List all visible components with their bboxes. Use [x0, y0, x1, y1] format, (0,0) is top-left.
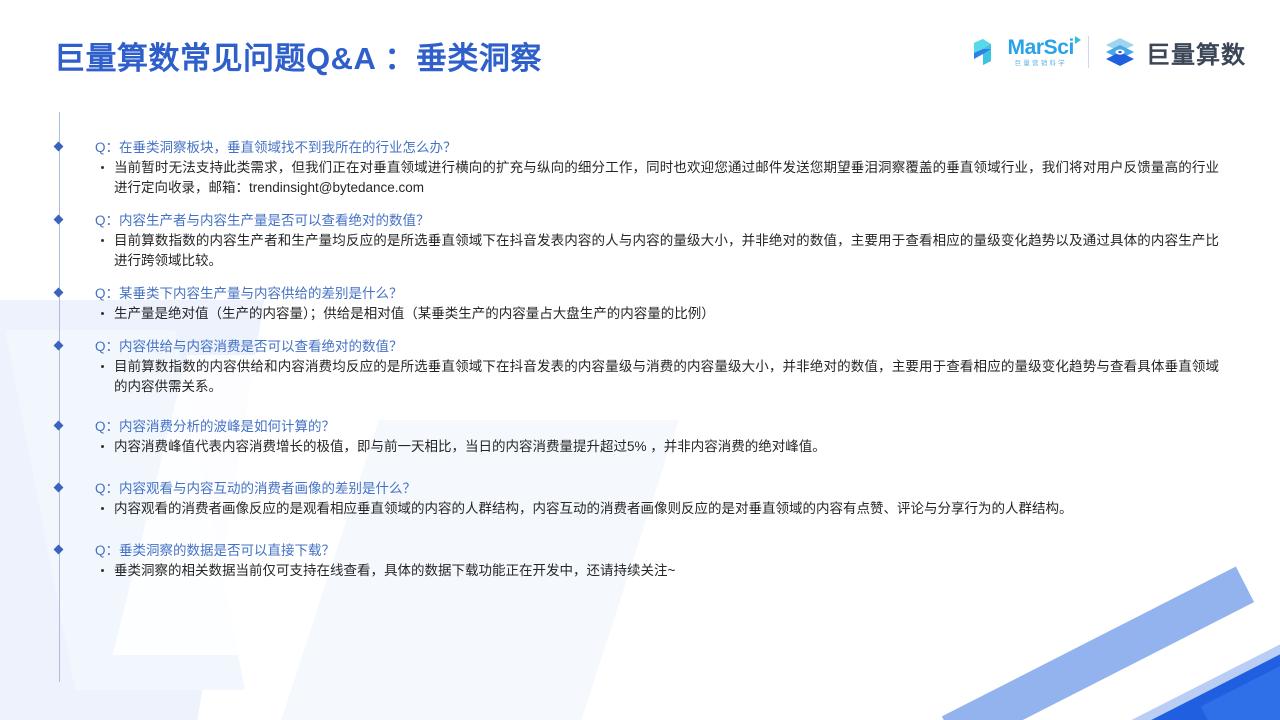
question-text: Q：内容观看与内容互动的消费者画像的差别是什么？ [95, 481, 416, 496]
question-text: Q：某垂类下内容生产量与内容供给的差别是什么？ [95, 286, 403, 301]
answer-text: 垂类洞察的相关数据当前仅可支持在线查看，具体的数据下载功能正在开发中，还请持续关… [114, 561, 1227, 581]
question-row: Q：某垂类下内容生产量与内容供给的差别是什么？ [59, 284, 1227, 303]
qa-item: Q：垂类洞察的数据是否可以直接下载？ 垂类洞察的相关数据当前仅可支持在线查看，具… [59, 541, 1227, 581]
answer-row: 垂类洞察的相关数据当前仅可支持在线查看，具体的数据下载功能正在开发中，还请持续关… [59, 561, 1227, 581]
marsci-logo: MarSci 巨量营销科学 [971, 37, 1074, 68]
diamond-bullet-icon [54, 215, 64, 225]
dot-bullet-icon [101, 507, 104, 510]
page-title: 巨量算数常见问题Q&A ：垂类洞察 [54, 33, 542, 78]
marsci-wordmark: MarSci 巨量营销科学 [1008, 37, 1074, 68]
answer-row: 当前暂时无法支持此类需求，但我们正在对垂直领域进行横向的扩充与纵向的细分工作，同… [59, 158, 1227, 198]
answer-row: 内容消费峰值代表内容消费增长的极值，即与前一天相比，当日的内容消费量提升超过5%… [59, 437, 1227, 457]
layered-hexagon-icon [1103, 35, 1137, 69]
slide: 巨量算数常见问题Q&A ：垂类洞察 MarSci 巨量营销科学 [0, 0, 1280, 720]
question-row: Q：在垂类洞察板块，垂直领域找不到我所在的行业怎么办？ [59, 138, 1227, 157]
answer-text: 目前算数指数的内容供给和内容消费均反应的是所选垂直领域下在抖音发表的内容量级与消… [114, 357, 1227, 397]
dot-bullet-icon [101, 166, 104, 169]
logo-divider [1088, 36, 1089, 68]
marsci-tick-icon [1075, 36, 1081, 44]
slide-header: 巨量算数常见问题Q&A ：垂类洞察 MarSci 巨量营销科学 [0, 0, 1280, 100]
question-row: Q：内容消费分析的波峰是如何计算的？ [59, 417, 1227, 436]
qa-item: Q：内容观看与内容互动的消费者画像的差别是什么？ 内容观看的消费者画像反应的是观… [59, 479, 1227, 519]
diamond-bullet-icon [54, 421, 64, 431]
diamond-bullet-icon [54, 341, 64, 351]
answer-row: 目前算数指数的内容供给和内容消费均反应的是所选垂直领域下在抖音发表的内容量级与消… [59, 357, 1227, 397]
diamond-bullet-icon [54, 545, 64, 555]
qa-item: Q：内容消费分析的波峰是如何计算的？ 内容消费峰值代表内容消费增长的极值，即与前… [59, 417, 1227, 457]
marsci-word: MarSci [1008, 37, 1074, 58]
question-row: Q：内容供给与内容消费是否可以查看绝对的数值？ [59, 337, 1227, 356]
qa-item: Q：在垂类洞察板块，垂直领域找不到我所在的行业怎么办？ 当前暂时无法支持此类需求… [59, 138, 1227, 198]
answer-text: 生产量是绝对值（生产的内容量）；供给是相对值（某垂类生产的内容量占大盘生产的内容… [114, 304, 1227, 324]
answer-text: 内容观看的消费者画像反应的是观看相应垂直领域的内容的人群结构，内容互动的消费者画… [114, 499, 1227, 519]
dot-bullet-icon [101, 569, 104, 572]
qa-item: Q：某垂类下内容生产量与内容供给的差别是什么？ 生产量是绝对值（生产的内容量）；… [59, 284, 1227, 324]
answer-text: 当前暂时无法支持此类需求，但我们正在对垂直领域进行横向的扩充与纵向的细分工作，同… [114, 158, 1227, 198]
diamond-bullet-icon [54, 483, 64, 493]
question-row: Q：垂类洞察的数据是否可以直接下载？ [59, 541, 1227, 560]
question-row: Q：内容观看与内容互动的消费者画像的差别是什么？ [59, 479, 1227, 498]
marsci-subtitle: 巨量营销科学 [1015, 61, 1067, 68]
dot-bullet-icon [101, 365, 104, 368]
question-text: Q：内容消费分析的波峰是如何计算的？ [95, 419, 335, 434]
logo-group: MarSci 巨量营销科学 巨量算数 [971, 28, 1246, 76]
question-text: Q：内容供给与内容消费是否可以查看绝对的数值？ [95, 339, 403, 354]
juliang-suanshu-logo: 巨量算数 [1103, 35, 1246, 70]
answer-row: 生产量是绝对值（生产的内容量）；供给是相对值（某垂类生产的内容量占大盘生产的内容… [59, 304, 1227, 324]
answer-text: 目前算数指数的内容生产者和生产量均反应的是所选垂直领域下在抖音发表内容的人与内容… [114, 231, 1227, 271]
qa-item: Q：内容生产者与内容生产量是否可以查看绝对的数值？ 目前算数指数的内容生产者和生… [59, 211, 1227, 271]
dot-bullet-icon [101, 239, 104, 242]
juliang-suanshu-word: 巨量算数 [1146, 35, 1246, 70]
diamond-bullet-icon [54, 288, 64, 298]
qa-item: Q：内容供给与内容消费是否可以查看绝对的数值？ 目前算数指数的内容供给和内容消费… [59, 337, 1227, 397]
dot-bullet-icon [101, 445, 104, 448]
answer-row: 内容观看的消费者画像反应的是观看相应垂直领域的内容的人群结构，内容互动的消费者画… [59, 499, 1227, 519]
dot-bullet-icon [101, 312, 104, 315]
qa-list: Q：在垂类洞察板块，垂直领域找不到我所在的行业怎么办？ 当前暂时无法支持此类需求… [59, 138, 1227, 594]
diagonal-stripe-dark [995, 609, 1280, 720]
question-text: Q：垂类洞察的数据是否可以直接下载？ [95, 543, 335, 558]
answer-text: 内容消费峰值代表内容消费增长的极值，即与前一天相比，当日的内容消费量提升超过5%… [114, 437, 1227, 457]
answer-row: 目前算数指数的内容生产者和生产量均反应的是所选垂直领域下在抖音发表内容的人与内容… [59, 231, 1227, 271]
diamond-bullet-icon [54, 142, 64, 152]
diagonal-stripe-light-2 [1063, 619, 1280, 720]
question-text: Q：在垂类洞察板块，垂直领域找不到我所在的行业怎么办？ [95, 140, 457, 155]
marsci-cube-icon [971, 37, 1001, 67]
question-text: Q：内容生产者与内容生产量是否可以查看绝对的数值？ [95, 213, 430, 228]
diagonal-stripe-dark-2 [1201, 616, 1280, 720]
question-row: Q：内容生产者与内容生产量是否可以查看绝对的数值？ [59, 211, 1227, 230]
